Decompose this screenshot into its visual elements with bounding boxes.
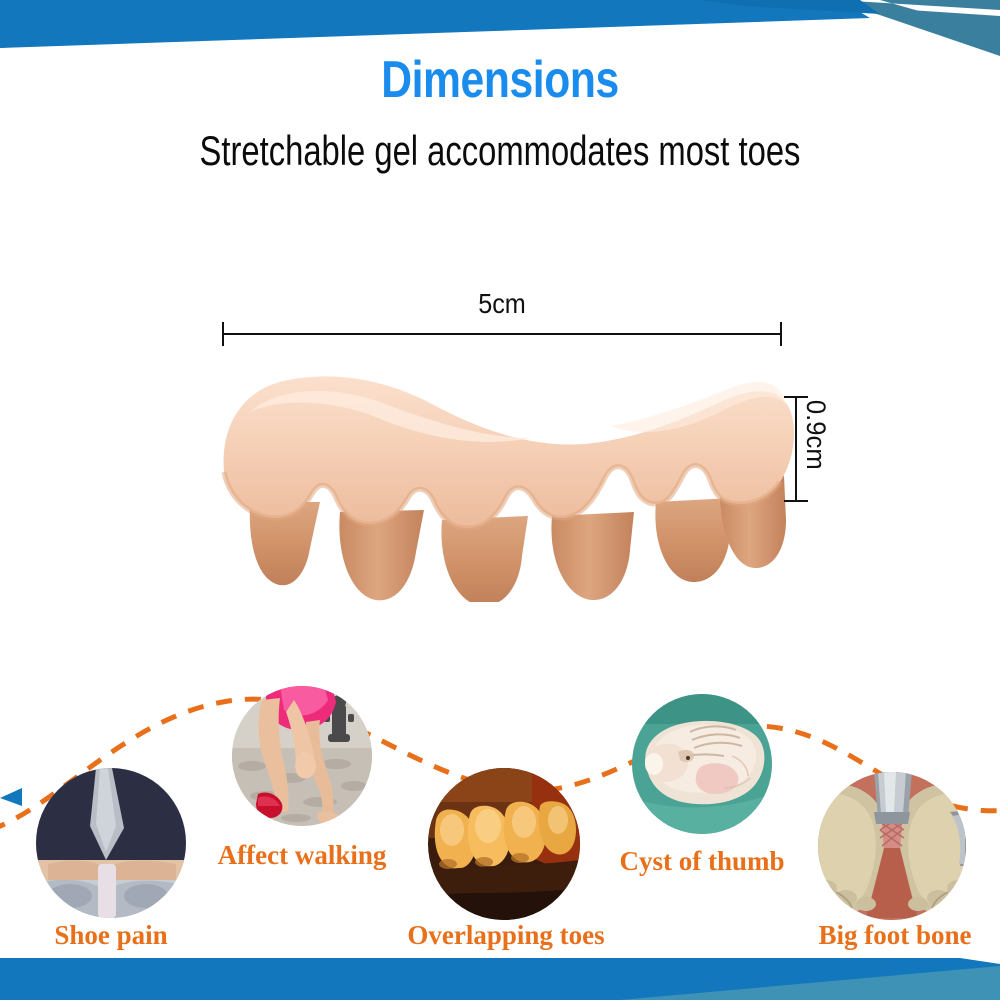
banner-blue-main-fill	[0, 0, 870, 48]
gel-toe-posts	[250, 476, 786, 602]
benefit-photo-cyst-of-thumb	[632, 694, 772, 834]
width-cap-right	[780, 322, 782, 346]
benefit-caption-overlapping-toes: Overlapping toes	[396, 922, 616, 949]
page-title: Dimensions	[90, 53, 910, 108]
product-photo	[180, 352, 800, 602]
page-subtitle: Stretchable gel accommodates most toes	[110, 128, 890, 174]
benefit-photo-affect-walking	[232, 686, 372, 826]
height-cap-bottom	[784, 500, 808, 502]
benefit-photo-big-foot-bone	[818, 772, 966, 920]
bottom-banner	[0, 952, 1000, 1000]
benefit-caption-shoe-pain: Shoe pain	[21, 922, 201, 949]
width-dimension-line	[222, 322, 782, 346]
benefit-caption-affect-walking: Affect walking	[212, 842, 392, 869]
benefit-photo-overlapping-toes	[428, 768, 580, 920]
height-cap-top	[784, 396, 808, 398]
left-arrow-icon	[0, 786, 22, 808]
benefit-caption-cyst-of-thumb: Cyst of thumb	[612, 848, 792, 875]
width-rule	[222, 333, 782, 335]
height-rule	[795, 396, 797, 502]
benefit-photo-shoe-pain	[36, 768, 186, 918]
benefit-caption-big-foot-bone: Big foot bone	[800, 922, 990, 949]
infographic-page: Dimensions Stretchable gel accommodates …	[0, 0, 1000, 1000]
height-dimension-label: 0.9cm	[800, 400, 831, 470]
width-cap-left	[222, 322, 224, 346]
width-dimension-label: 5cm	[250, 288, 754, 320]
